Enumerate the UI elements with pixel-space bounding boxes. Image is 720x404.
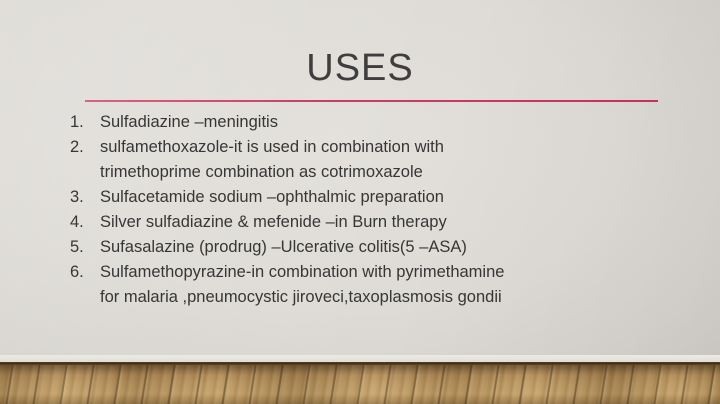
title-underline-rule bbox=[85, 100, 658, 102]
list-item-text: Sulfadiazine –meningitis bbox=[100, 110, 670, 135]
list-item-number: 1. bbox=[70, 110, 94, 135]
list-item-text: sulfamethoxazole-it is used in combinati… bbox=[100, 135, 670, 160]
list-item-continuation: trimethoprime combination as cotrimoxazo… bbox=[100, 160, 670, 185]
list-item-text: Sufasalazine (prodrug) –Ulcerative colit… bbox=[100, 235, 670, 260]
list-item-number: 3. bbox=[70, 185, 94, 210]
list-item: 1. Sulfadiazine –meningitis bbox=[70, 110, 670, 135]
list-item: 6. Sulfamethopyrazine-in combination wit… bbox=[70, 260, 670, 310]
list-item-text: Sulfamethopyrazine-in combination with p… bbox=[100, 260, 670, 285]
uses-list: 1. Sulfadiazine –meningitis 2. sulfameth… bbox=[70, 110, 670, 310]
floor-shading bbox=[0, 365, 720, 404]
list-item-number: 2. bbox=[70, 135, 94, 160]
list-item-number: 6. bbox=[70, 260, 94, 285]
presentation-slide: USES 1. Sulfadiazine –meningitis 2. sulf… bbox=[0, 0, 720, 404]
list-item: 4. Silver sulfadiazine & mefenide –in Bu… bbox=[70, 210, 670, 235]
list-item-number: 4. bbox=[70, 210, 94, 235]
page-title: USES bbox=[0, 45, 720, 91]
list-item: 2. sulfamethoxazole-it is used in combin… bbox=[70, 135, 670, 185]
list-item-number: 5. bbox=[70, 235, 94, 260]
list-item-text: Sulfacetamide sodium –ophthalmic prepara… bbox=[100, 185, 670, 210]
wooden-floor bbox=[0, 365, 720, 404]
list-item: 3. Sulfacetamide sodium –ophthalmic prep… bbox=[70, 185, 670, 210]
list-item-text: Silver sulfadiazine & mefenide –in Burn … bbox=[100, 210, 670, 235]
list-item-continuation: for malaria ,pneumocystic jiroveci,taxop… bbox=[100, 285, 670, 310]
list-item: 5. Sufasalazine (prodrug) –Ulcerative co… bbox=[70, 235, 670, 260]
